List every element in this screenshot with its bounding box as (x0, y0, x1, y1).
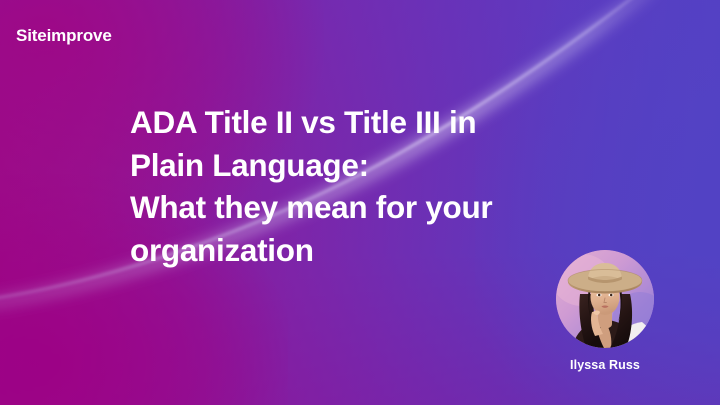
title-line-4: organization (130, 229, 600, 272)
presentation-slide: Siteimprove ADA Title II vs Title III in… (0, 0, 720, 405)
title-line-1: ADA Title II vs Title III in (130, 101, 600, 144)
avatar (556, 250, 654, 348)
page-title: ADA Title II vs Title III in Plain Langu… (130, 101, 600, 271)
siteimprove-logo[interactable]: Siteimprove (16, 26, 112, 46)
speaker-block: Ilyssa Russ (536, 250, 674, 373)
title-line-3: What they mean for your (130, 186, 600, 229)
title-line-2: Plain Language: (130, 144, 600, 187)
speaker-name: Ilyssa Russ (536, 358, 674, 373)
